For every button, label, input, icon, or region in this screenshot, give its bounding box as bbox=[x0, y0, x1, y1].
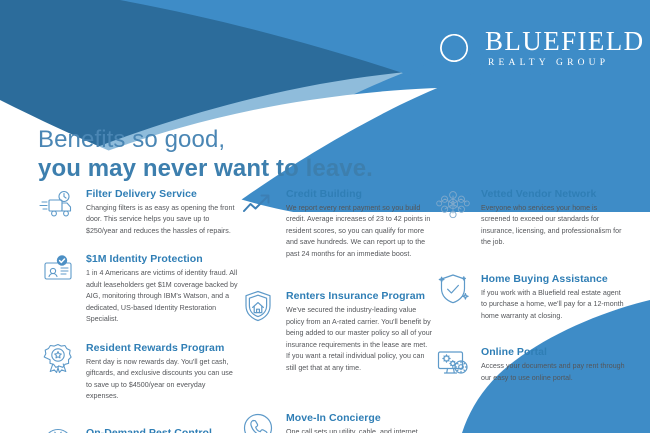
benefit-body: Everyone who services your home is scree… bbox=[481, 203, 628, 249]
benefit-text: On-Demand Pest Control Pest Assurance, p… bbox=[86, 425, 238, 433]
delivery-truck-icon bbox=[38, 184, 78, 224]
benefit-title: Renters Insurance Program bbox=[286, 290, 433, 302]
benefit-body: Access your documents and pay rent throu… bbox=[481, 361, 628, 384]
benefit-item: Move-In Concierge One call sets up utili… bbox=[238, 410, 433, 433]
benefit-body: One call sets up utility, cable, and int… bbox=[286, 427, 433, 433]
benefit-text: Credit Building We report every rent pay… bbox=[286, 186, 433, 260]
shield-home-icon bbox=[238, 286, 278, 326]
people-network-icon bbox=[433, 184, 473, 224]
benefits-flyer-page: BLUEFIELD REALTY GROUP Benefits so good,… bbox=[0, 0, 650, 433]
benefit-item: Home Buying Assistance If you work with … bbox=[433, 271, 628, 322]
benefit-item: Renters Insurance Program We've secured … bbox=[238, 288, 433, 374]
benefit-body: 1 in 4 Americans are victims of identity… bbox=[86, 268, 238, 325]
benefit-item: Resident Rewards Program Rent day is now… bbox=[38, 340, 238, 403]
benefit-title: Credit Building bbox=[286, 188, 433, 200]
benefit-body: Rent day is now rewards day. You'll get … bbox=[86, 357, 238, 403]
benefit-body: If you work with a Bluefield real estate… bbox=[481, 288, 628, 322]
benefit-title: Resident Rewards Program bbox=[86, 342, 238, 354]
trending-up-arrow-icon bbox=[238, 184, 278, 224]
shield-check-sparkle-icon bbox=[433, 269, 473, 309]
benefit-title: Vetted Vendor Network bbox=[481, 188, 628, 200]
page-title: Benefits so good, you may never want to … bbox=[38, 125, 373, 184]
benefit-text: Home Buying Assistance If you work with … bbox=[481, 271, 628, 322]
benefit-text: Renters Insurance Program We've secured … bbox=[286, 288, 433, 374]
benefit-item: $1M Identity Protection 1 in 4 Americans… bbox=[38, 251, 238, 325]
benefit-title: Online Portal bbox=[481, 346, 628, 358]
benefit-body: We've secured the industry-leading value… bbox=[286, 305, 433, 374]
benefit-item: Vetted Vendor Network Everyone who servi… bbox=[433, 186, 628, 249]
id-card-check-icon bbox=[38, 249, 78, 289]
benefit-text: Vetted Vendor Network Everyone who servi… bbox=[481, 186, 628, 249]
benefit-title: On-Demand Pest Control bbox=[86, 427, 238, 433]
benefit-item: Filter Delivery Service Changing filters… bbox=[38, 186, 238, 237]
benefits-columns: Filter Delivery Service Changing filters… bbox=[38, 186, 628, 433]
benefit-body: Changing filters is as easy as opening t… bbox=[86, 203, 238, 237]
headline-line-2: you may never want to leave. bbox=[38, 154, 373, 183]
logo-subtitle: REALTY GROUP bbox=[485, 59, 645, 69]
benefit-text: Filter Delivery Service Changing filters… bbox=[86, 186, 238, 237]
benefits-column-1: Filter Delivery Service Changing filters… bbox=[38, 186, 238, 433]
benefit-body: We report every rent payment so you buil… bbox=[286, 203, 433, 260]
benefit-title: $1M Identity Protection bbox=[86, 253, 238, 265]
benefits-column-2: Credit Building We report every rent pay… bbox=[238, 186, 433, 433]
headline-line-1: Benefits so good, bbox=[38, 125, 373, 154]
benefit-item: Credit Building We report every rent pay… bbox=[238, 186, 433, 260]
benefit-text: $1M Identity Protection 1 in 4 Americans… bbox=[86, 251, 238, 325]
benefit-text: Move-In Concierge One call sets up utili… bbox=[286, 410, 433, 433]
benefit-title: Move-In Concierge bbox=[286, 412, 433, 424]
award-ribbon-icon bbox=[38, 338, 78, 378]
brand-logo: BLUEFIELD REALTY GROUP bbox=[432, 26, 645, 70]
benefit-title: Home Buying Assistance bbox=[481, 273, 628, 285]
logo-name: BLUEFIELD bbox=[485, 28, 645, 55]
benefit-text: Online Portal Access your documents and … bbox=[481, 344, 628, 384]
benefits-column-3: Vetted Vendor Network Everyone who servi… bbox=[433, 186, 628, 433]
ring-of-arcs-logo-icon bbox=[432, 26, 476, 70]
logo-wordmark: BLUEFIELD REALTY GROUP bbox=[485, 28, 645, 69]
benefit-text: Resident Rewards Program Rent day is now… bbox=[86, 340, 238, 403]
benefit-title: Filter Delivery Service bbox=[86, 188, 238, 200]
benefit-item: On-Demand Pest Control Pest Assurance, p… bbox=[38, 425, 238, 433]
phone-handset-icon bbox=[238, 408, 278, 433]
monitor-gears-icon bbox=[433, 342, 473, 382]
benefit-item: Online Portal Access your documents and … bbox=[433, 344, 628, 384]
pest-bug-icon bbox=[38, 423, 78, 433]
